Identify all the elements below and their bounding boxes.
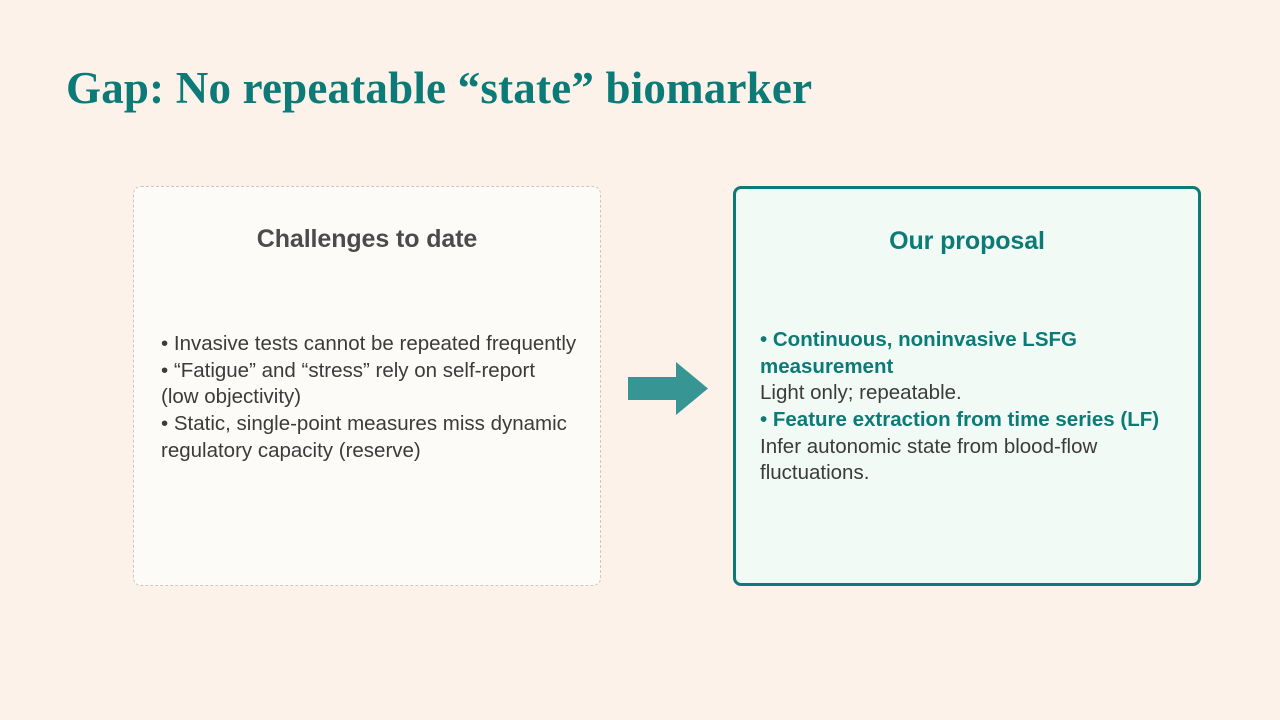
proposal-card-body: • Continuous, noninvasive LSFG measureme… (760, 327, 1180, 487)
arrow-right-icon (628, 362, 708, 415)
list-item: • “Fatigue” and “stress” rely on self-re… (161, 358, 578, 411)
challenges-card-heading: Challenges to date (134, 225, 600, 254)
arrow-right-glyph (628, 362, 708, 415)
challenges-card-body: • Invasive tests cannot be repeated freq… (161, 331, 578, 464)
list-item-lead: • Feature extraction from time series (L… (760, 408, 1159, 431)
slide-canvas: Gap: No repeatable “state” biomarker Cha… (0, 0, 1280, 720)
list-item: • Static, single-point measures miss dyn… (161, 411, 578, 464)
list-item-sub: Infer autonomic state from blood-flow fl… (760, 435, 1097, 485)
list-item-lead: • Continuous, noninvasive LSFG measureme… (760, 328, 1077, 378)
page-title: Gap: No repeatable “state” biomarker (66, 62, 812, 114)
list-item: • Feature extraction from time series (L… (760, 407, 1180, 487)
challenges-card: Challenges to date • Invasive tests cann… (133, 186, 601, 586)
proposal-card-heading: Our proposal (736, 227, 1198, 256)
proposal-card: Our proposal • Continuous, noninvasive L… (733, 186, 1201, 586)
list-item: • Continuous, noninvasive LSFG measureme… (760, 327, 1180, 407)
list-item: • Invasive tests cannot be repeated freq… (161, 331, 578, 358)
list-item-sub: Light only; repeatable. (760, 381, 962, 404)
